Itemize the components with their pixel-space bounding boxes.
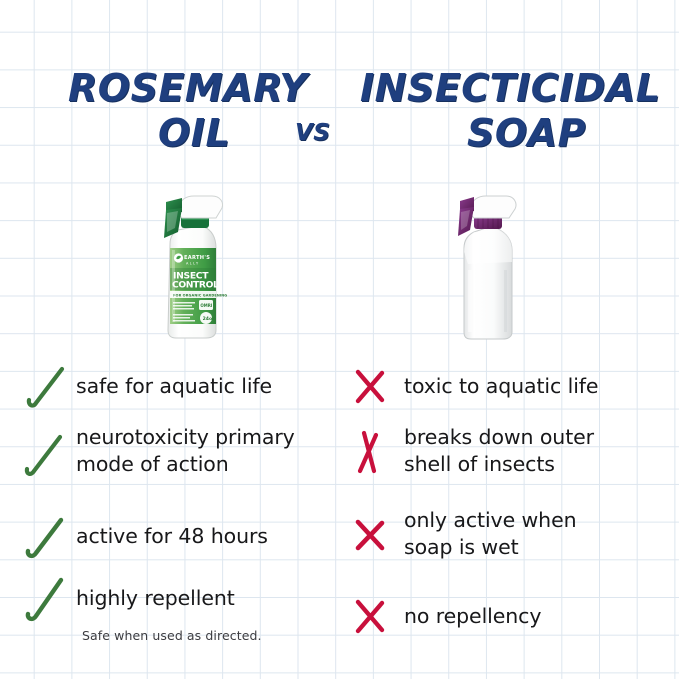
svg-text:EARTH'S: EARTH'S [184, 255, 210, 261]
infographic-page: ROSEMARY OIL VS INSECTICIDAL SOAP [0, 0, 679, 679]
cross-icon [352, 360, 398, 412]
footnote-disclaimer: Safe when used as directed. [82, 628, 262, 643]
list-item: highly repellent [24, 572, 354, 624]
product-images: EARTH'S ALLY INSECT CONTROL FOR ORGANIC … [0, 186, 679, 346]
svg-text:FOR ORGANIC GARDENING: FOR ORGANIC GARDENING [173, 293, 227, 297]
list-item-label: highly repellent [70, 585, 235, 612]
comparison-columns: safe for aquatic life neurotoxicity prim… [0, 352, 679, 652]
svg-text:ALLY: ALLY [186, 261, 200, 265]
title-oil: OIL [158, 111, 230, 155]
check-icon [24, 572, 70, 624]
list-item: active for 48 hours [24, 510, 354, 562]
list-item: safe for aquatic life [24, 360, 354, 412]
list-item: neurotoxicity primary mode of action [24, 424, 354, 478]
list-item: no repellency [352, 590, 679, 642]
title-soap: SOAP [467, 111, 586, 155]
list-item: only active when soap is wet [352, 507, 679, 561]
title-insecticidal: INSECTICIDAL [360, 66, 660, 110]
cross-icon [352, 590, 398, 642]
cross-icon [352, 508, 398, 560]
list-item-label: toxic to aquatic life [398, 373, 598, 400]
plain-insecticidal-soap-bottle [412, 186, 572, 346]
check-icon [24, 425, 70, 477]
svg-text:OMRI: OMRI [200, 303, 212, 308]
title-block: ROSEMARY OIL VS INSECTICIDAL SOAP [0, 58, 679, 168]
list-item-label: active for 48 hours [70, 523, 268, 550]
list-item-label: neurotoxicity primary mode of action [70, 424, 295, 478]
list-item-label: breaks down outer shell of insects [398, 424, 594, 478]
list-item: breaks down outer shell of insects [352, 424, 679, 478]
earths-ally-insect-control-bottle: EARTH'S ALLY INSECT CONTROL FOR ORGANIC … [120, 186, 280, 346]
list-item-label: only active when soap is wet [398, 507, 576, 561]
title-versus: VS [295, 120, 330, 146]
svg-text:CONTROL: CONTROL [172, 280, 219, 291]
title-rosemary: ROSEMARY [68, 66, 307, 110]
list-item: toxic to aquatic life [352, 360, 679, 412]
check-icon [24, 510, 70, 562]
cross-icon [352, 425, 398, 477]
list-item-label: safe for aquatic life [70, 373, 272, 400]
svg-text:24oz: 24oz [203, 316, 216, 322]
check-icon [24, 360, 70, 412]
list-item-label: no repellency [398, 603, 541, 630]
